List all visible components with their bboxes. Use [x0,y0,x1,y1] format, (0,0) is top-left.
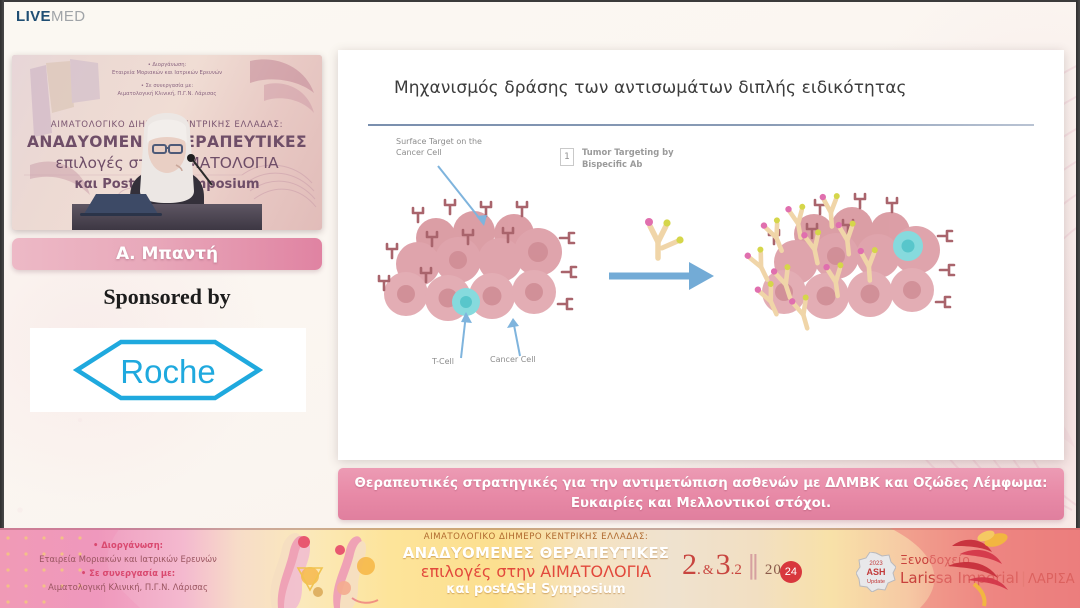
logo-med-text: MED [51,8,86,25]
livemed-logo[interactable]: LIVEMED [16,8,86,25]
footer-organizer-name: Εταιρεία Μοριακών και Ιατρικών Ερευνών [10,552,246,566]
video-player-thumbnail[interactable]: • Διοργάνωση: Εταιρεία Μοριακών και Ιατρ… [12,55,322,230]
footer-title-line4: και postASH Symposium [392,583,680,596]
footer-title-line1: ΑΙΜΑΤΟΛΟΓΙΚΟ ΔΙΗΜΕΡΟ ΚΕΝΤΡΙΚΗΣ ΕΛΛΑΔΑΣ: [392,533,680,542]
player-stage: LIVEMED • Διοργάνωση: Εταιρε [0,0,1080,608]
footer-organizer-header: • Διοργάνωση: [10,538,246,552]
sponsor-logo-card: Roche [30,328,306,412]
left-tumor-cluster [379,200,576,321]
footer-title-line2: ΑΝΑΔΥΟΜΕΝΕΣ ΘΕΡΑΠΕΥΤΙΚΕΣ [392,546,680,561]
footer-event-date: 2 . & 3 . 2 ∥ 20 24 [682,550,832,594]
right-tumor-cluster [744,193,954,331]
slide-title-divider [368,124,1034,126]
label-tumor-targeting: Tumor Targeting by Bispecific Ab [582,147,674,170]
session-title-line2: Ευκαιρίες και Μελλοντικοί στόχοι. [571,494,831,514]
free-bispecific-antibody [645,218,684,258]
laptop-icon [76,190,166,216]
date-month: 2 [734,555,742,585]
footer-title-line3: επιλογές στην ΑΙΜΑΤΟΛΟΓΙΑ [392,564,680,580]
window-right-edge [1076,0,1080,608]
date-dot1: . [697,555,701,585]
date-day1: 2 [682,550,697,580]
footer-cooperation-header: • Σε συνεργασία με: [10,566,246,580]
date-ampersand: & [703,556,714,586]
presentation-slide[interactable]: Μηχανισμός δράσης των αντισωμάτων διπλής… [338,50,1064,460]
sponsored-by-heading: Sponsored by [0,284,334,310]
label-surface-target: Surface Target on the Cancer Cell [396,136,482,158]
date-day2: 3 [716,550,731,580]
speaker-name-bar: Α. Μπαντή [12,238,322,270]
bispecific-antibody-diagram [362,142,1042,402]
svg-text:Roche: Roche [120,353,215,390]
label-t-cell: T-Cell [432,356,454,367]
footer-right-artwork [890,528,1080,608]
speaker-name-text: Α. Μπαντή [116,244,218,264]
window-top-edge [0,0,1080,2]
slide-figure: Surface Target on the Cancer Cell 1 Tumo… [362,142,1042,402]
footer-organizer-block: • Διοργάνωση: Εταιρεία Μοριακών και Ιατρ… [10,538,246,594]
session-title-banner: Θεραπευτικές στρατηγικές για την αντιμετ… [338,468,1064,520]
roche-logo-icon: Roche [73,339,263,401]
svg-text:Update: Update [867,579,885,585]
transition-arrow [609,262,714,290]
step-number-box: 1 [560,148,574,166]
svg-text:ASH: ASH [866,567,885,577]
footer-decorative-artwork [248,528,394,608]
footer-event-title-block: ΑΙΜΑΤΟΛΟΓΙΚΟ ΔΙΗΜΕΡΟ ΚΕΝΤΡΙΚΗΣ ΕΛΛΑΔΑΣ: … [392,533,680,596]
slide-title: Μηχανισμός δράσης των αντισωμάτων διπλής… [394,78,907,98]
session-title-line1: Θεραπευτικές στρατηγικές για την αντιμετ… [355,474,1048,494]
event-footer-banner: • Διοργάνωση: Εταιρεία Μοριακών και Ιατρ… [0,528,1080,608]
label-cancer-cell: Cancer Cell [490,354,536,365]
logo-live-text: LIVE [16,8,51,25]
date-year-badge: 24 [780,561,802,583]
footer-cooperation-name: Αιματολογική Κλινική, Π.Γ.Ν. Λάρισας [10,580,246,594]
date-separator: ∥ [747,551,760,581]
